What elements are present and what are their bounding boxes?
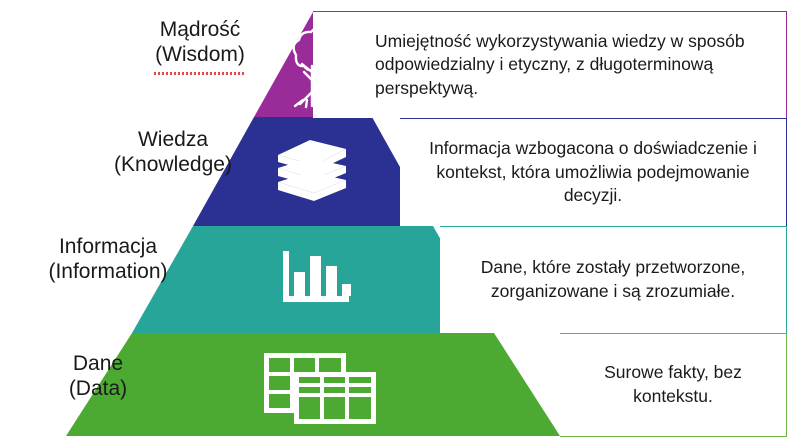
tier-label-knowledge-english: (Knowledge) <box>78 153 268 178</box>
description-panel-data: Surowe fakty, bez kontekstu. <box>560 333 787 437</box>
tier-label-knowledge: Wiedza (Knowledge) <box>78 128 268 178</box>
tier-label-knowledge-native: Wiedza <box>78 128 268 153</box>
tier-label-data-english: (Data) <box>8 377 188 402</box>
description-panel-information: Dane, które zostały przetworzone, zorgan… <box>440 226 787 333</box>
description-text-knowledge: Informacja wzbogacona o doświadczenie i … <box>400 137 786 208</box>
spellcheck-underline <box>154 72 244 75</box>
tier-label-data: Dane (Data) <box>8 352 188 402</box>
description-panel-wisdom: Umiejętność wykorzystywania wiedzy w spo… <box>313 11 787 118</box>
tier-label-wisdom: Mądrość (Wisdom) <box>120 18 280 68</box>
description-text-data: Surowe fakty, bez kontekstu. <box>560 361 786 408</box>
dikw-pyramid-diagram: Mądrość (Wisdom) Wiedza (Knowledge) Info… <box>0 0 800 446</box>
tier-label-information-native: Informacja <box>8 235 208 260</box>
tier-label-information-english: (Information) <box>8 260 208 285</box>
tier-label-wisdom-english: (Wisdom) <box>120 43 280 68</box>
description-panel-knowledge: Informacja wzbogacona o doświadczenie i … <box>400 118 787 226</box>
tier-label-information: Informacja (Information) <box>8 235 208 285</box>
description-text-information: Dane, które zostały przetworzone, zorgan… <box>440 256 786 303</box>
tier-label-data-native: Dane <box>8 352 188 377</box>
tier-label-wisdom-native: Mądrość <box>120 18 280 43</box>
description-text-wisdom: Umiejętność wykorzystywania wiedzy w spo… <box>313 30 786 101</box>
